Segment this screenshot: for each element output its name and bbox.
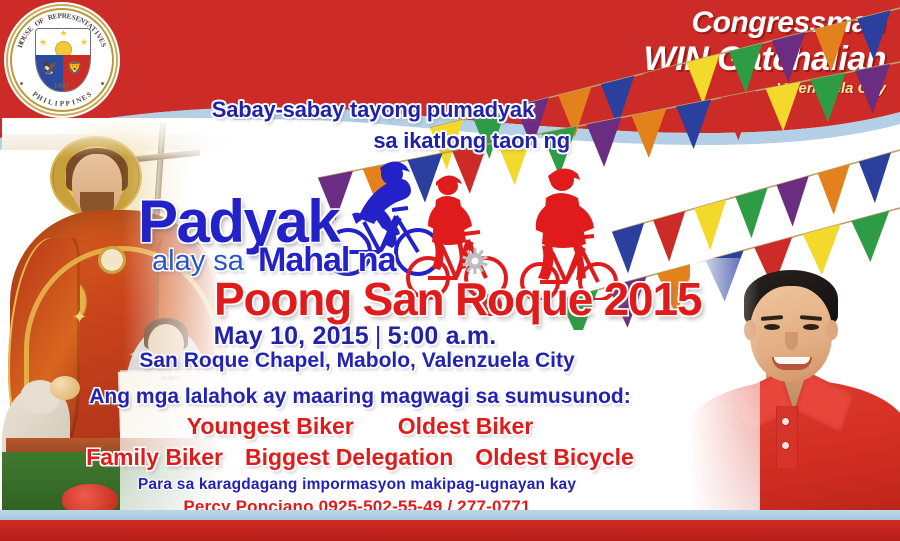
seal-dot <box>20 82 23 85</box>
bunting-flag <box>601 76 634 126</box>
congressman-name-block: Congressman WIN Gatchalian Valenzuela Ci… <box>644 8 886 96</box>
seal-star-icon: ★ <box>39 39 46 46</box>
event-date: May 10, 2015 <box>214 322 369 350</box>
prize-item: Family Biker <box>86 444 223 471</box>
seal-lion-icon: 🦁 <box>67 61 83 74</box>
bunting-string <box>612 150 900 232</box>
bunting-flag <box>735 188 767 239</box>
seal-eagle-icon: 🦅 <box>42 61 58 74</box>
bunting-flag <box>851 211 889 262</box>
bunting-flag <box>859 153 891 204</box>
event-separator: | <box>369 322 388 350</box>
seal-star-icon: ★ <box>60 30 67 37</box>
congressman-name: WIN Gatchalian <box>644 42 886 76</box>
event-venue: San Roque Chapel, Mabolo, Valenzuela Cit… <box>0 349 900 373</box>
event-time: 5:00 a.m. <box>388 322 497 350</box>
bunting-flag <box>721 91 756 140</box>
prize-row-1: Youngest BikerOldest Biker <box>0 413 900 440</box>
bunting-flag <box>408 153 443 202</box>
tagline-line-2: sa ikatlong taon ng <box>150 129 570 154</box>
bunting-flag <box>777 176 809 227</box>
title-poong-san-roque: Poong San Roque 2015 <box>214 276 701 322</box>
bunting-flag <box>676 100 711 149</box>
racing-cyclist-blue <box>352 161 411 248</box>
bunting-flag <box>612 223 644 274</box>
tagline-line-1: Sabay-sabay tayong pumadyak <box>150 98 534 123</box>
prizes-heading: Ang mga lalahok ay maaring magwagi sa su… <box>0 385 900 409</box>
house-of-representatives-seal: HOUSE OF REPRESENTATIVESPHILIPPINES ★ ★ … <box>8 6 116 114</box>
tagline-block: Sabay-sabay tayong pumadyak sa ikatlong … <box>150 98 570 153</box>
seal-star-icon: ★ <box>80 39 87 46</box>
prize-item: Biggest Delegation <box>245 444 453 471</box>
prize-row-2: Family BikerBiggest DelegationOldest Bic… <box>0 444 900 471</box>
bunting-flag <box>631 109 666 158</box>
upright-cyclist-red <box>428 175 472 270</box>
bunting-flag <box>587 118 622 167</box>
prize-item: Oldest Biker <box>398 413 534 440</box>
congressman-city: Valenzuela City <box>644 81 886 96</box>
footer-red-band <box>0 520 900 541</box>
contact-line-1: Para sa karagdagang impormasyon makipag-… <box>0 476 900 494</box>
bunting-flag <box>363 162 398 211</box>
title-alay-sa: alay sa <box>152 247 244 276</box>
gear-icon-gray <box>462 248 488 274</box>
prize-item: Oldest Bicycle <box>475 444 634 471</box>
prize-item: Youngest Biker <box>187 413 354 440</box>
bunting-flag <box>818 164 850 215</box>
bunting-flag <box>653 211 685 262</box>
title-mahal-na: Mahal na <box>258 243 395 277</box>
seal-year: 1987 <box>8 82 116 90</box>
footer-blue-band <box>0 510 900 520</box>
bunting-flag <box>694 199 726 250</box>
bmx-cyclist-red <box>536 168 594 280</box>
seal-dot <box>101 82 104 85</box>
poster-canvas: HOUSE OF REPRESENTATIVESPHILIPPINES ★ ★ … <box>0 0 900 541</box>
congressman-label: Congressman <box>644 8 886 38</box>
event-datetime: May 10, 2015|5:00 a.m. <box>0 322 900 351</box>
